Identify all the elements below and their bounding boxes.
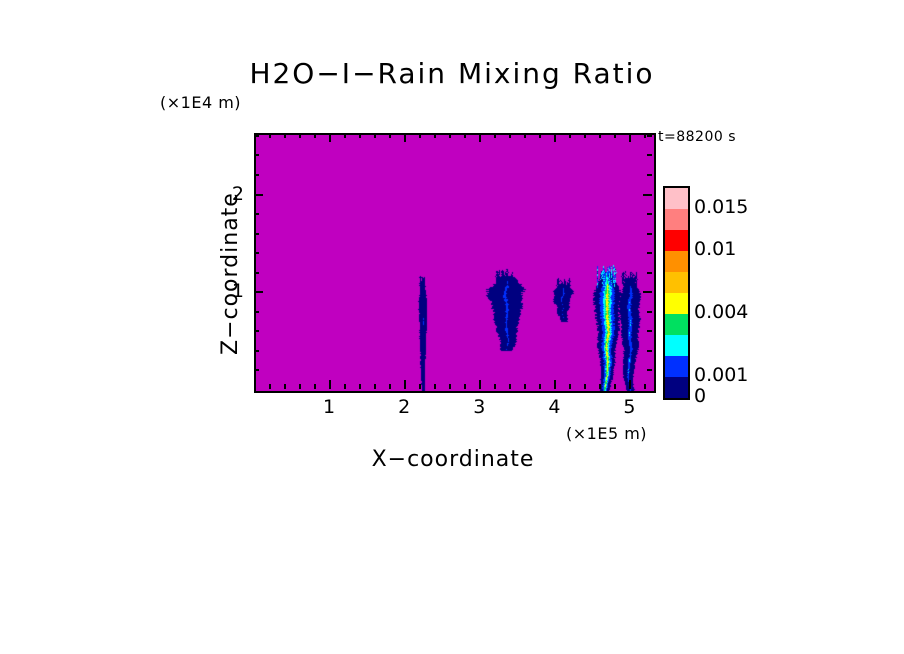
- colorbar-tick-label: 0.015: [694, 196, 748, 218]
- x-tick-label: 1: [323, 396, 335, 418]
- x-minor-tick-top: [614, 133, 616, 138]
- x-major-tick-top: [404, 133, 406, 142]
- x-minor-tick-top: [539, 133, 541, 138]
- y-minor-tick: [254, 135, 259, 137]
- y-minor-tick: [254, 350, 259, 352]
- x-major-tick-top: [554, 133, 556, 142]
- colorbar-band: [665, 335, 688, 356]
- y-major-tick: [254, 291, 263, 293]
- x-minor-tick-top: [464, 133, 466, 138]
- x-tick-label: 4: [548, 396, 560, 418]
- y-minor-tick: [254, 272, 259, 274]
- x-axis-unit-label: (×1E5 m): [566, 424, 647, 443]
- x-major-tick: [629, 380, 631, 389]
- y-minor-tick-right: [647, 154, 652, 156]
- x-minor-tick-top: [269, 133, 271, 138]
- page-title: H2O−I−Rain Mixing Ratio: [0, 57, 904, 90]
- y-minor-tick-right: [647, 174, 652, 176]
- heatmap-canvas: [256, 135, 654, 391]
- y-minor-tick: [254, 154, 259, 156]
- y-minor-tick: [254, 213, 259, 215]
- y-minor-tick-right: [647, 369, 652, 371]
- x-minor-tick: [539, 384, 541, 389]
- x-axis-label: X−coordinate: [254, 447, 652, 472]
- y-minor-tick-right: [647, 311, 652, 313]
- colorbar: [663, 186, 690, 400]
- x-minor-tick: [584, 384, 586, 389]
- colorbar-band: [665, 356, 688, 377]
- colorbar-band: [665, 314, 688, 335]
- x-minor-tick: [419, 384, 421, 389]
- x-minor-tick: [449, 384, 451, 389]
- x-minor-tick: [569, 384, 571, 389]
- x-minor-tick: [434, 384, 436, 389]
- y-minor-tick-right: [647, 330, 652, 332]
- y-minor-tick: [254, 174, 259, 176]
- colorbar-tick-label: 0.001: [694, 364, 748, 386]
- y-major-tick: [254, 194, 263, 196]
- x-minor-tick-top: [449, 133, 451, 138]
- y-minor-tick: [254, 311, 259, 313]
- x-minor-tick: [464, 384, 466, 389]
- y-major-tick-right: [643, 194, 652, 196]
- colorbar-tick-label: 0.01: [694, 238, 736, 260]
- y-axis-unit-label: (×1E4 m): [160, 93, 241, 112]
- plot-area: [254, 133, 656, 393]
- x-minor-tick-top: [359, 133, 361, 138]
- figure-canvas: H2O−I−Rain Mixing Ratio (×1E4 m) t=88200…: [0, 0, 904, 654]
- x-minor-tick-top: [374, 133, 376, 138]
- x-minor-tick-top: [434, 133, 436, 138]
- x-minor-tick: [269, 384, 271, 389]
- x-major-tick: [404, 380, 406, 389]
- y-minor-tick: [254, 233, 259, 235]
- x-minor-tick: [284, 384, 286, 389]
- x-minor-tick-top: [524, 133, 526, 138]
- x-minor-tick-top: [509, 133, 511, 138]
- x-minor-tick: [644, 384, 646, 389]
- x-minor-tick: [614, 384, 616, 389]
- x-minor-tick-top: [389, 133, 391, 138]
- colorbar-band: [665, 293, 688, 314]
- x-tick-label: 5: [623, 396, 635, 418]
- timestamp-annotation: t=88200 s: [658, 129, 736, 145]
- colorbar-band: [665, 230, 688, 251]
- y-minor-tick-right: [647, 252, 652, 254]
- colorbar-band: [665, 272, 688, 293]
- x-major-tick: [554, 380, 556, 389]
- colorbar-band: [665, 251, 688, 272]
- y-axis-label: Z−coordinate: [218, 192, 243, 355]
- x-minor-tick: [509, 384, 511, 389]
- x-minor-tick: [494, 384, 496, 389]
- y-minor-tick: [254, 369, 259, 371]
- x-minor-tick-top: [344, 133, 346, 138]
- x-minor-tick: [299, 384, 301, 389]
- y-minor-tick-right: [647, 233, 652, 235]
- x-major-tick-top: [629, 133, 631, 142]
- x-tick-label: 3: [473, 396, 485, 418]
- x-minor-tick: [599, 384, 601, 389]
- y-minor-tick: [254, 252, 259, 254]
- y-minor-tick-right: [647, 135, 652, 137]
- y-major-tick-right: [643, 291, 652, 293]
- x-major-tick-top: [479, 133, 481, 142]
- colorbar-band: [665, 188, 688, 209]
- y-minor-tick-right: [647, 213, 652, 215]
- x-major-tick-top: [329, 133, 331, 142]
- y-minor-tick-right: [647, 350, 652, 352]
- x-major-tick: [329, 380, 331, 389]
- x-tick-label: 2: [398, 396, 410, 418]
- x-minor-tick-top: [599, 133, 601, 138]
- y-minor-tick-right: [647, 272, 652, 274]
- x-minor-tick-top: [284, 133, 286, 138]
- x-minor-tick: [314, 384, 316, 389]
- colorbar-tick-label: 0: [694, 385, 706, 407]
- x-minor-tick-top: [494, 133, 496, 138]
- colorbar-tick-label: 0.004: [694, 301, 748, 323]
- x-minor-tick: [374, 384, 376, 389]
- y-minor-tick: [254, 330, 259, 332]
- x-minor-tick: [344, 384, 346, 389]
- x-minor-tick-top: [299, 133, 301, 138]
- x-major-tick: [479, 380, 481, 389]
- x-minor-tick-top: [569, 133, 571, 138]
- x-minor-tick-top: [584, 133, 586, 138]
- x-minor-tick: [359, 384, 361, 389]
- x-minor-tick: [524, 384, 526, 389]
- colorbar-band: [665, 209, 688, 230]
- x-minor-tick: [389, 384, 391, 389]
- x-minor-tick-top: [314, 133, 316, 138]
- x-minor-tick-top: [419, 133, 421, 138]
- colorbar-band: [665, 377, 688, 398]
